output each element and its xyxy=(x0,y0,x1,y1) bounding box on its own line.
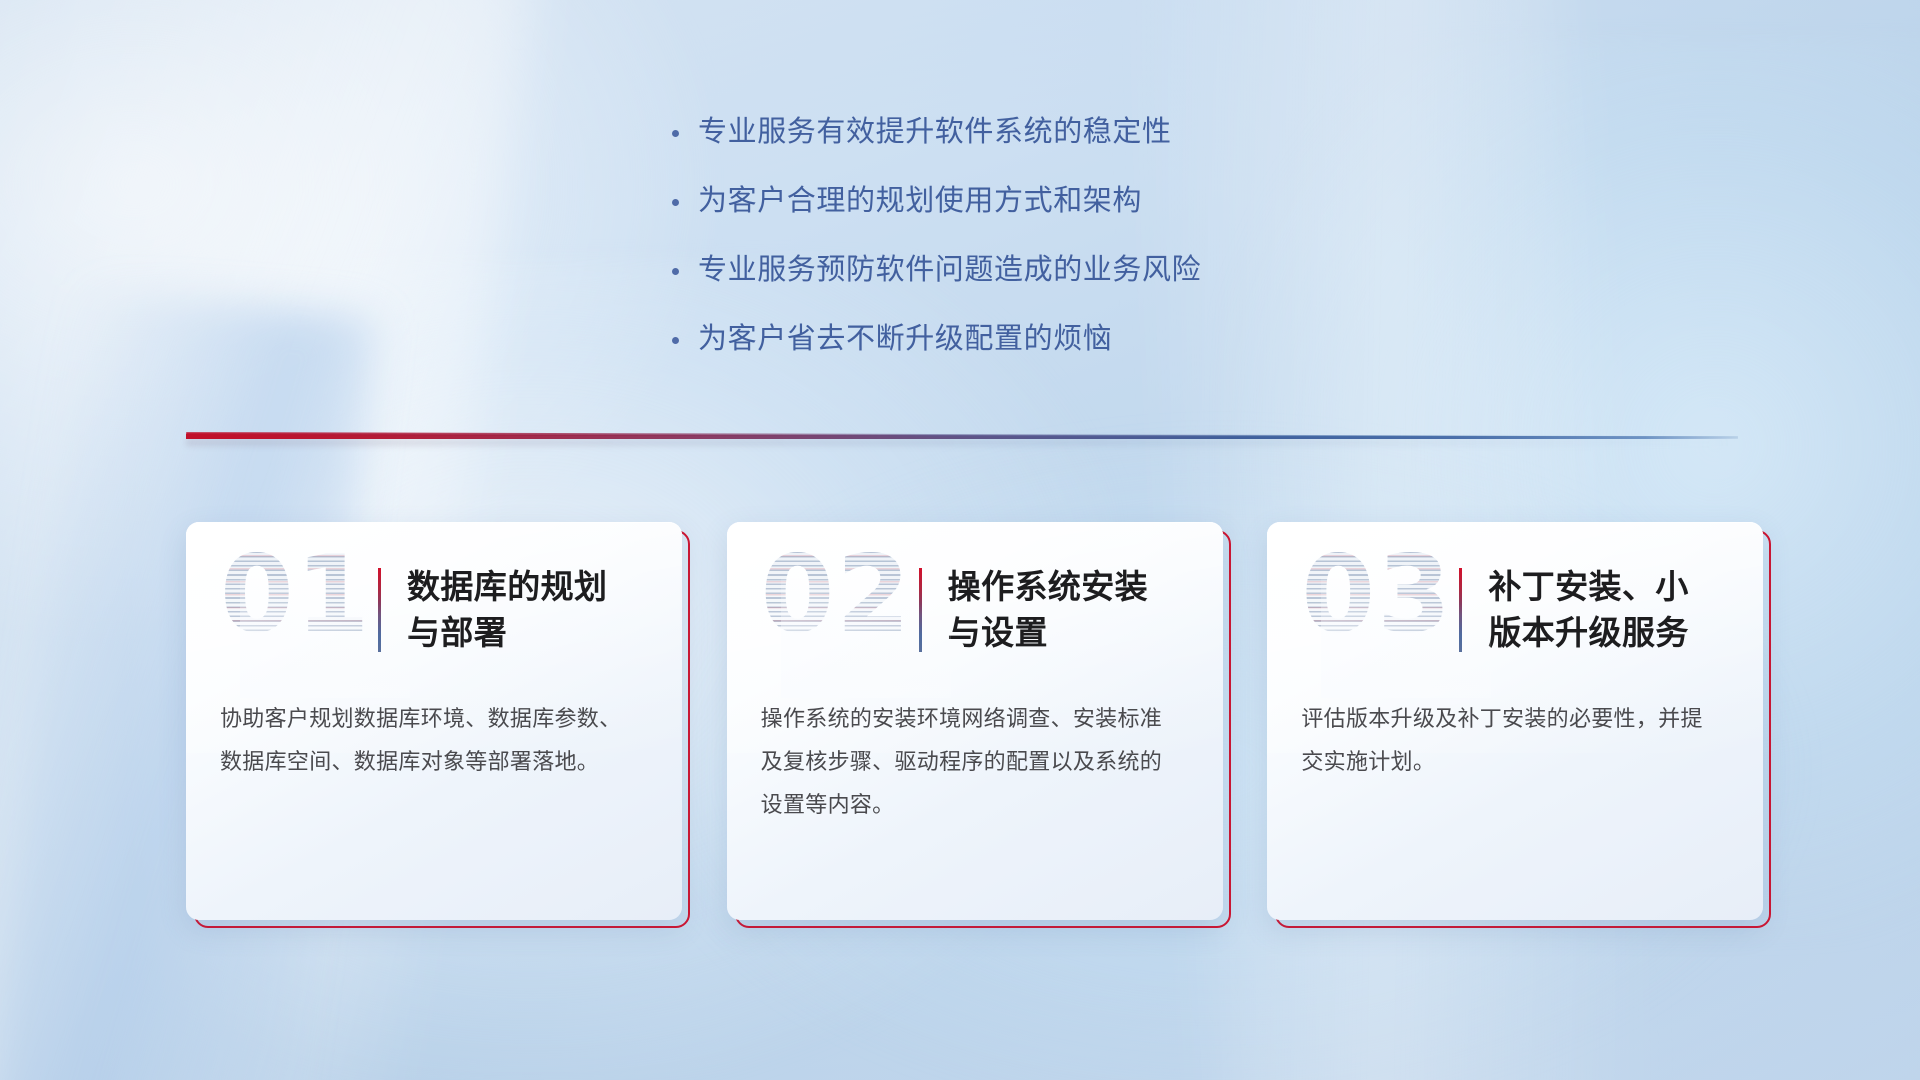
service-card-slot-2: 02 02 操作系统安装 与设置 操作系统的安装环境网络调查、安装标准及复核步骤… xyxy=(727,522,1206,920)
section-divider xyxy=(186,428,1738,450)
card-body-text: 操作系统的安装环境网络调查、安装标准及复核步骤、驱动程序的配置以及系统的设置等内… xyxy=(727,654,1223,827)
card-number-graphic: 03 03 xyxy=(1301,558,1459,662)
card-header: 01 01 数据库的规划 与部署 xyxy=(186,522,682,654)
slide-canvas: 专业服务有效提升软件系统的稳定性 为客户合理的规划使用方式和架构 专业服务预防软… xyxy=(0,0,1920,1080)
service-card[interactable]: 02 02 操作系统安装 与设置 操作系统的安装环境网络调查、安装标准及复核步骤… xyxy=(727,522,1223,920)
card-number-text-tint: 03 xyxy=(1301,542,1453,648)
card-number-text-tint: 01 xyxy=(220,542,372,648)
card-accent-bar xyxy=(378,568,381,652)
card-number-graphic: 01 01 xyxy=(220,558,378,662)
bullet-text: 专业服务预防软件问题造成的业务风险 xyxy=(698,246,1201,288)
card-accent-bar xyxy=(1459,568,1462,652)
card-header: 02 02 操作系统安装 与设置 xyxy=(727,522,1223,654)
card-title: 操作系统安装 与设置 xyxy=(948,564,1148,655)
benefits-bullet-list: 专业服务有效提升软件系统的稳定性 为客户合理的规划使用方式和架构 专业服务预防软… xyxy=(672,108,1432,384)
bullet-text: 为客户省去不断升级配置的烦恼 xyxy=(698,315,1112,357)
service-card[interactable]: 03 03 补丁安装、小 版本升级服务 评估版本升级及补丁安装的必要性，并提交实… xyxy=(1267,522,1763,920)
bullet-item: 为客户合理的规划使用方式和架构 xyxy=(672,177,1432,219)
card-accent-bar xyxy=(919,568,922,652)
bullet-item: 专业服务有效提升软件系统的稳定性 xyxy=(672,108,1432,150)
bullet-text: 专业服务有效提升软件系统的稳定性 xyxy=(698,108,1172,150)
bullet-dot-icon xyxy=(672,325,698,344)
card-body-text: 协助客户规划数据库环境、数据库参数、数据库空间、数据库对象等部署落地。 xyxy=(186,654,682,784)
bullet-text: 为客户合理的规划使用方式和架构 xyxy=(698,177,1142,219)
divider-shadow xyxy=(186,439,1738,446)
bullet-dot-icon xyxy=(672,256,698,275)
service-card-slot-3: 03 03 补丁安装、小 版本升级服务 评估版本升级及补丁安装的必要性，并提交实… xyxy=(1267,522,1746,920)
bullet-dot-icon xyxy=(672,187,698,206)
card-title: 数据库的规划 与部署 xyxy=(407,564,607,655)
bullet-dot-icon xyxy=(672,118,698,137)
card-title: 补丁安装、小 版本升级服务 xyxy=(1488,564,1688,655)
service-card-list: 01 01 数据库的规划 与部署 协助客户规划数据库环境、数据库参数、数据库空间… xyxy=(186,522,1746,920)
card-body-text: 评估版本升级及补丁安装的必要性，并提交实施计划。 xyxy=(1267,654,1763,784)
service-card-slot-1: 01 01 数据库的规划 与部署 协助客户规划数据库环境、数据库参数、数据库空间… xyxy=(186,522,665,920)
card-number-graphic: 02 02 xyxy=(761,558,919,662)
bullet-item: 为客户省去不断升级配置的烦恼 xyxy=(672,315,1432,357)
bullet-item: 专业服务预防软件问题造成的业务风险 xyxy=(672,246,1432,288)
card-header: 03 03 补丁安装、小 版本升级服务 xyxy=(1267,522,1763,654)
service-card[interactable]: 01 01 数据库的规划 与部署 协助客户规划数据库环境、数据库参数、数据库空间… xyxy=(186,522,682,920)
card-number-text-tint: 02 xyxy=(761,542,913,648)
